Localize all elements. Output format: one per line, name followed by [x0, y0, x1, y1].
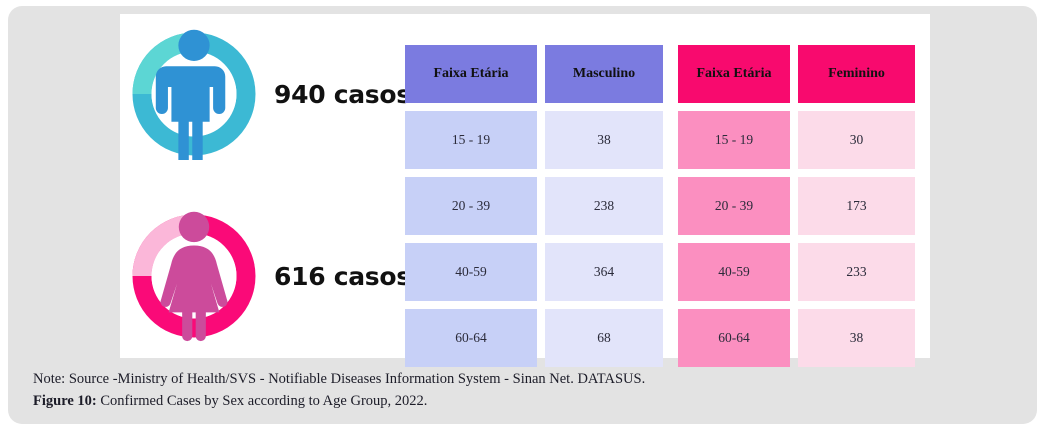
caption-figure-title: Confirmed Cases by Sex according to Age … [97, 393, 428, 409]
caption-figure-line: Figure 10: Confirmed Cases by Sex accord… [33, 390, 993, 412]
column-masculino-values: Masculino 38 238 364 68 [545, 45, 663, 367]
stat-block-female: 616 casos [128, 210, 411, 342]
column-faixa-etaria-masculino: Faixa Etária 15 - 19 20 - 39 40-59 60-64 [405, 45, 537, 367]
male-person-icon [128, 28, 260, 160]
male-count-label: 940 casos [274, 80, 411, 109]
donut-chart-male [128, 28, 260, 160]
table-cell-age: 15 - 19 [405, 111, 537, 169]
column-feminino-values: Feminino 30 173 233 38 [798, 45, 915, 367]
table-header-cell: Feminino [798, 45, 915, 103]
table-cell-age: 40-59 [405, 243, 537, 301]
table-header-cell: Faixa Etária [678, 45, 790, 103]
caption-figure-label: Figure 10: [33, 393, 97, 409]
table-cell-age: 60-64 [405, 309, 537, 367]
donut-chart-female [128, 210, 260, 342]
table-cell-value: 30 [798, 111, 915, 169]
table-cell-value: 68 [545, 309, 663, 367]
table-header-cell: Masculino [545, 45, 663, 103]
table-cell-value: 173 [798, 177, 915, 235]
female-count-label: 616 casos [274, 262, 411, 291]
column-faixa-etaria-feminino: Faixa Etária 15 - 19 20 - 39 40-59 60-64 [678, 45, 790, 367]
table-cell-value: 364 [545, 243, 663, 301]
table-cell-value: 38 [545, 111, 663, 169]
table-cell-age: 60-64 [678, 309, 790, 367]
table-cell-age: 20 - 39 [405, 177, 537, 235]
figure-root: 940 casos 616 casos Faixa Etária 15 - 19… [0, 0, 1045, 430]
table-cell-value: 233 [798, 243, 915, 301]
table-cell-value: 238 [545, 177, 663, 235]
table-cell-age: 15 - 19 [678, 111, 790, 169]
table-feminino: Faixa Etária 15 - 19 20 - 39 40-59 60-64… [678, 45, 915, 367]
table-cell-age: 40-59 [678, 243, 790, 301]
table-cell-value: 38 [798, 309, 915, 367]
table-header-cell: Faixa Etária [405, 45, 537, 103]
female-person-icon [128, 210, 260, 342]
figure-caption: Note: Source -Ministry of Health/SVS - N… [33, 368, 993, 412]
table-masculino: Faixa Etária 15 - 19 20 - 39 40-59 60-64… [405, 45, 663, 367]
stat-block-male: 940 casos [128, 28, 411, 160]
caption-note: Note: Source -Ministry of Health/SVS - N… [33, 368, 993, 390]
table-cell-age: 20 - 39 [678, 177, 790, 235]
